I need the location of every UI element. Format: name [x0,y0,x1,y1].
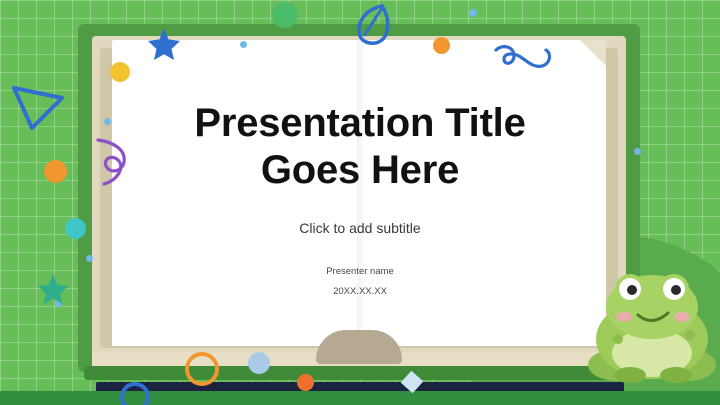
dot-blue-bottom-icon [248,352,270,374]
dot-orange-left-icon [44,160,67,183]
dot-small-blue-e-icon [469,9,477,17]
frog-illustration [578,261,718,391]
book-spine-knob [316,330,402,364]
dot-small-blue-d-icon [634,148,641,155]
bottom-dark-bar [96,382,624,391]
title-line-2: Goes Here [261,148,459,192]
star-teal-icon [36,272,70,306]
dot-yellow-icon [110,62,130,82]
slide-text-block: Presentation Title Goes Here Click to ad… [112,100,608,297]
dot-orange-bottom-icon [297,374,314,391]
leaf-outline-blue-icon [352,2,394,48]
bottom-green-bar [0,391,720,405]
squiggle-blue-icon [492,42,556,76]
book-base-shadow [84,366,634,380]
slide-subtitle[interactable]: Click to add subtitle [112,220,608,236]
dot-orange-top-icon [433,37,450,54]
ring-orange-bottom-icon [185,352,219,386]
triangle-blue-left-icon [10,82,66,132]
star-blue-icon [146,26,182,62]
title-line-1: Presentation Title [194,101,525,145]
presentation-slide: Presentation Title Goes Here Click to ad… [0,0,720,405]
dot-small-blue-b-icon [104,118,111,125]
dot-small-blue-c-icon [86,255,93,262]
presenter-name[interactable]: Presenter name [112,266,608,277]
page-title[interactable]: Presentation Title Goes Here [112,100,608,194]
ring-blue-bottom-icon [120,382,150,405]
dot-small-blue-a-icon [240,41,247,48]
dot-green-top-icon [272,2,298,28]
presentation-date[interactable]: 20XX.XX.XX [112,286,608,297]
dot-teal-icon [65,218,86,239]
